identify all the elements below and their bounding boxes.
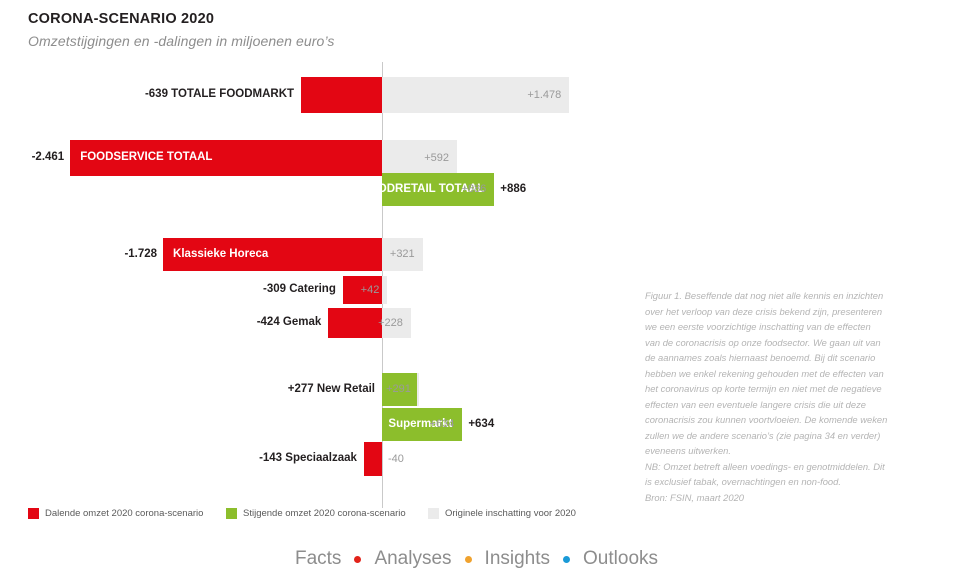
caption-line: van de coronacrisis op onze foodsector. …: [645, 335, 935, 351]
estimate-value-label: +592: [424, 153, 449, 164]
chart-row: -424 Gemak+228: [0, 308, 640, 338]
scenario-bar-negative: [364, 442, 382, 476]
estimate-value-label: +321: [390, 249, 415, 260]
footer-dot-icon: [563, 556, 570, 563]
estimate-value-label: +291: [386, 384, 411, 395]
scenario-value-label: -1.728: [124, 249, 157, 261]
caption-line: we een eerste voorzichtige inschatting v…: [645, 319, 935, 335]
chart-page: CORONA-SCENARIO 2020 Omzetstijgingen en …: [0, 0, 953, 584]
brand-footer: FactsAnalysesInsightsOutlooks: [0, 548, 953, 570]
caption-line: het coronavirus op korte termijn en niet…: [645, 381, 935, 397]
legend-label: Stijgende omzet 2020 corona-scenario: [243, 508, 406, 519]
chart-row: +886FOODRETAIL TOTAAL+886: [0, 173, 640, 206]
chart-row: -2.461FOODSERVICE TOTAAL+592: [0, 140, 640, 176]
footer-dot-icon: [465, 556, 472, 563]
scenario-bar-negative: [301, 77, 382, 113]
legend-label: Originele inschatting voor 2020: [445, 508, 576, 519]
footer-word: Outlooks: [583, 548, 658, 570]
scenario-value-label: +634: [468, 419, 494, 431]
category-value-label: -424 Gemak: [257, 317, 322, 329]
legend-item: Originele inschatting voor 2020: [428, 508, 576, 519]
category-label: Klassieke Horeca: [173, 249, 268, 261]
estimate-value-label: +886: [461, 184, 486, 195]
caption-line: de aannames zoals hiernaast benoemd. Bij…: [645, 350, 935, 366]
footer-dot-icon: [354, 556, 361, 563]
estimate-value-label: +228: [378, 318, 403, 329]
caption-line: Figuur 1. Beseffende dat nog niet alle k…: [645, 288, 935, 304]
caption-line: zullen we de andere scenario’s (zie pagi…: [645, 428, 935, 444]
category-value-label: -309 Catering: [263, 284, 336, 296]
chart-row: +634Supermarkt+634: [0, 408, 640, 441]
chart-row: +277 New Retail+291: [0, 373, 640, 406]
scenario-bar-negative: [328, 308, 382, 338]
estimate-value-label: -40: [388, 454, 404, 465]
category-value-label: +277 New Retail: [288, 384, 375, 396]
legend-label: Dalende omzet 2020 corona-scenario: [45, 508, 203, 519]
legend-item: Dalende omzet 2020 corona-scenario: [28, 508, 203, 519]
estimate-value-label: +634: [430, 419, 455, 430]
caption-line: eveneens uitwerken.: [645, 443, 935, 459]
caption-line: over het verloop van deze crisis bekend …: [645, 304, 935, 320]
chart-row: -639 TOTALE FOODMARKT+1.478: [0, 77, 640, 113]
caption-line: coronacrisis zou kunnen voortvloeien. De…: [645, 412, 935, 428]
scenario-value-label: -2.461: [32, 152, 65, 164]
estimate-value-label: +1.478: [527, 90, 561, 101]
legend-swatch: [428, 508, 439, 519]
caption-line: hebben we enkel rekening gehouden met de…: [645, 366, 935, 382]
estimate-bar: [382, 276, 387, 304]
category-value-label: -639 TOTALE FOODMARKT: [145, 89, 294, 101]
page-title: CORONA-SCENARIO 2020: [28, 11, 214, 27]
bar-chart-plot: -639 TOTALE FOODMARKT+1.478-2.461FOODSER…: [0, 60, 640, 500]
figure-caption: Figuur 1. Beseffende dat nog niet alle k…: [645, 288, 935, 505]
scenario-value-label: +886: [500, 184, 526, 196]
estimate-value-label: +42: [361, 285, 380, 296]
chart-row: -309 Catering+42: [0, 276, 640, 304]
caption-line: effecten van een eventuele langere crisi…: [645, 397, 935, 413]
legend-item: Stijgende omzet 2020 corona-scenario: [226, 508, 406, 519]
footer-word: Facts: [295, 548, 341, 570]
chart-legend: Dalende omzet 2020 corona-scenarioStijge…: [28, 508, 628, 522]
chart-row: -1.728Klassieke Horeca+321: [0, 238, 640, 271]
caption-line: Bron: FSIN, maart 2020: [645, 490, 935, 506]
caption-line: is exclusief tabak, overnachtingen en no…: [645, 474, 935, 490]
chart-row: -143 Speciaalzaak-40: [0, 442, 640, 476]
legend-swatch: [28, 508, 39, 519]
footer-word: Analyses: [374, 548, 451, 570]
page-subtitle: Omzetstijgingen en -dalingen in miljoene…: [28, 33, 335, 49]
legend-swatch: [226, 508, 237, 519]
category-label: FOODSERVICE TOTAAL: [80, 152, 212, 164]
footer-word: Insights: [485, 548, 550, 570]
caption-line: NB: Omzet betreft alleen voedings- en ge…: [645, 459, 935, 475]
category-value-label: -143 Speciaalzaak: [259, 453, 357, 465]
